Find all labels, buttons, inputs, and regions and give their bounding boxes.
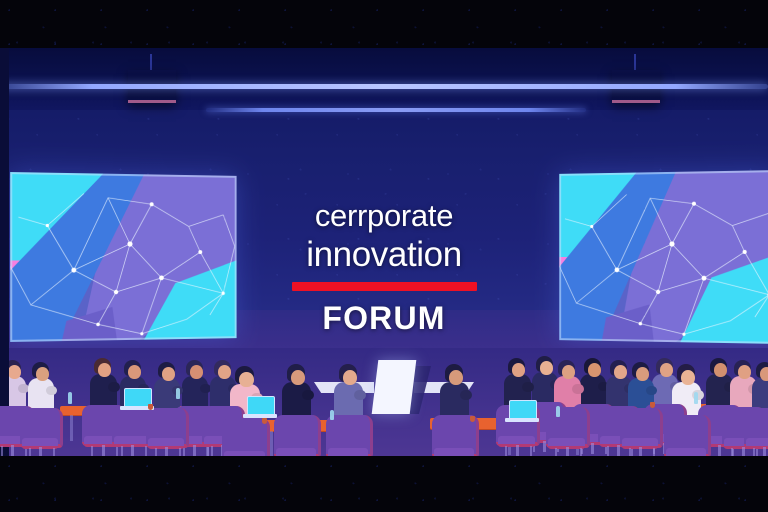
chair-post <box>131 445 134 456</box>
chair-post <box>718 445 721 456</box>
attendee-laptop-center-left[interactable] <box>243 396 277 420</box>
chair-post <box>591 443 594 454</box>
audience-chair[interactable] <box>326 415 370 456</box>
title-red-rule <box>292 282 477 291</box>
network-graphic-right <box>559 170 768 344</box>
water-bottle <box>694 392 698 404</box>
chair-seat <box>276 448 316 456</box>
drink-cup <box>470 416 475 422</box>
head <box>162 367 175 381</box>
audience-chair[interactable] <box>274 415 318 456</box>
chair-seat <box>434 448 474 456</box>
hall-interior: cerrporate innovation FORUM <box>0 48 768 456</box>
letterbox-bottom <box>0 456 768 512</box>
head <box>8 365 21 379</box>
light-strip-upper <box>0 84 768 89</box>
arm <box>354 390 366 400</box>
letterbox-top <box>0 0 768 48</box>
frame-edge-left <box>0 48 9 456</box>
arm <box>646 386 657 395</box>
head <box>681 370 695 385</box>
laptop-base <box>505 418 539 422</box>
chair-post <box>165 447 168 456</box>
torso <box>282 382 311 419</box>
drink-cup <box>650 402 655 408</box>
water-bottle <box>556 406 560 417</box>
water-bottle <box>176 388 180 399</box>
conference-hall-scene: cerrporate innovation FORUM <box>0 0 768 512</box>
arm <box>460 390 472 400</box>
arm <box>572 384 583 393</box>
head <box>588 363 601 377</box>
head <box>291 370 305 385</box>
chair-post <box>566 447 569 456</box>
laptop-base <box>243 414 277 418</box>
attendee-laptop-center-right[interactable] <box>505 400 539 424</box>
projection-screen-right[interactable] <box>559 170 768 344</box>
head <box>36 367 49 381</box>
audience-table-center-leg <box>270 431 273 456</box>
head <box>190 365 203 379</box>
torso <box>440 382 469 419</box>
audience-chair[interactable] <box>222 418 267 456</box>
arm <box>302 390 314 400</box>
audience-chair[interactable] <box>20 408 60 456</box>
letterbox-top-noise <box>0 0 768 48</box>
audience-chair[interactable] <box>664 415 708 456</box>
network-graphic-left <box>10 172 236 342</box>
screen-right-canvas <box>559 170 768 344</box>
title-line-forum: FORUM <box>256 300 512 336</box>
light-strip-lower <box>206 108 586 112</box>
audience-chair[interactable] <box>546 407 587 456</box>
laptop-screen <box>509 400 537 420</box>
screen-left-canvas <box>10 172 236 342</box>
torso <box>334 382 363 419</box>
chair-post <box>763 447 766 456</box>
chair-seat <box>666 448 706 456</box>
head <box>343 370 357 385</box>
event-title-block: cerrporate innovation FORUM <box>256 198 512 336</box>
drink-cup <box>262 418 267 424</box>
title-line-innovation: innovation <box>256 235 512 275</box>
chair-post <box>516 445 519 456</box>
drink-cup <box>148 404 153 410</box>
speaker-podium <box>372 360 417 414</box>
projection-screen-left[interactable] <box>10 172 236 342</box>
water-bottle <box>68 392 72 404</box>
chair-seat <box>328 448 368 456</box>
audience-chair[interactable] <box>146 408 186 456</box>
audience-chair[interactable] <box>620 408 660 456</box>
chair-post <box>39 447 42 456</box>
chair-post <box>193 445 196 456</box>
head <box>449 370 463 385</box>
chair-post <box>639 447 642 456</box>
chair-post <box>11 445 14 456</box>
chair-seat <box>224 451 265 456</box>
head <box>239 372 254 388</box>
head <box>636 367 649 381</box>
head <box>128 365 141 379</box>
audience-table-left-leg <box>70 415 73 441</box>
water-bottle <box>330 410 334 420</box>
arm <box>46 386 57 395</box>
head <box>760 367 768 381</box>
torso <box>182 376 208 410</box>
laptop-screen <box>247 396 275 416</box>
torso <box>90 374 117 409</box>
letterbox-bottom-noise <box>0 456 768 512</box>
chair-post <box>102 445 105 456</box>
title-line-corporate: cerrporate <box>256 198 512 234</box>
audience-chair[interactable] <box>744 408 768 456</box>
arm <box>522 382 533 391</box>
